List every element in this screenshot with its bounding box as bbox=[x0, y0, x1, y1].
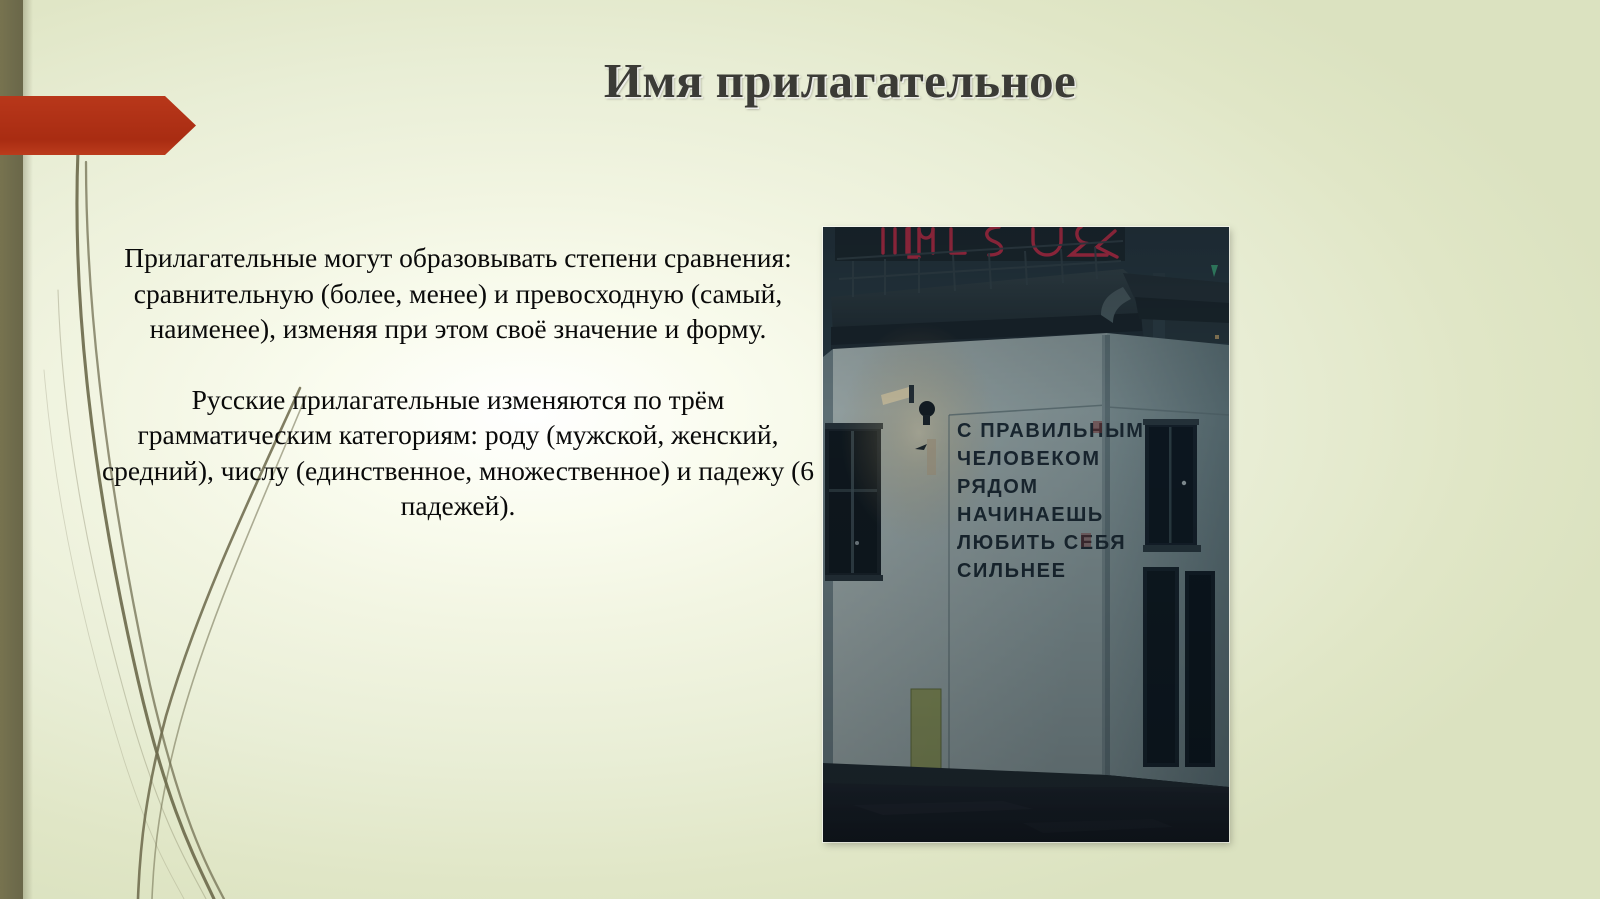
paragraph-spacer bbox=[96, 347, 820, 382]
body-text-block: Прилагательные могут образовывать степен… bbox=[96, 240, 820, 524]
page-title: Имя прилагательное bbox=[240, 52, 1440, 109]
body-paragraph-2: Русские прилагательные изменяются по трё… bbox=[96, 382, 820, 524]
photo-artwork: С ПРАВИЛЬНЫМ ЧЕЛОВЕКОМ РЯДОМ НАЧИНАЕШЬ Л… bbox=[823, 227, 1229, 842]
illustration-photo: С ПРАВИЛЬНЫМ ЧЕЛОВЕКОМ РЯДОМ НАЧИНАЕШЬ Л… bbox=[823, 227, 1229, 842]
accent-arrow-banner bbox=[0, 96, 196, 155]
body-paragraph-1: Прилагательные могут образовывать степен… bbox=[96, 240, 820, 347]
slide-canvas: Имя прилагательное Прилагательные могут … bbox=[0, 0, 1600, 899]
